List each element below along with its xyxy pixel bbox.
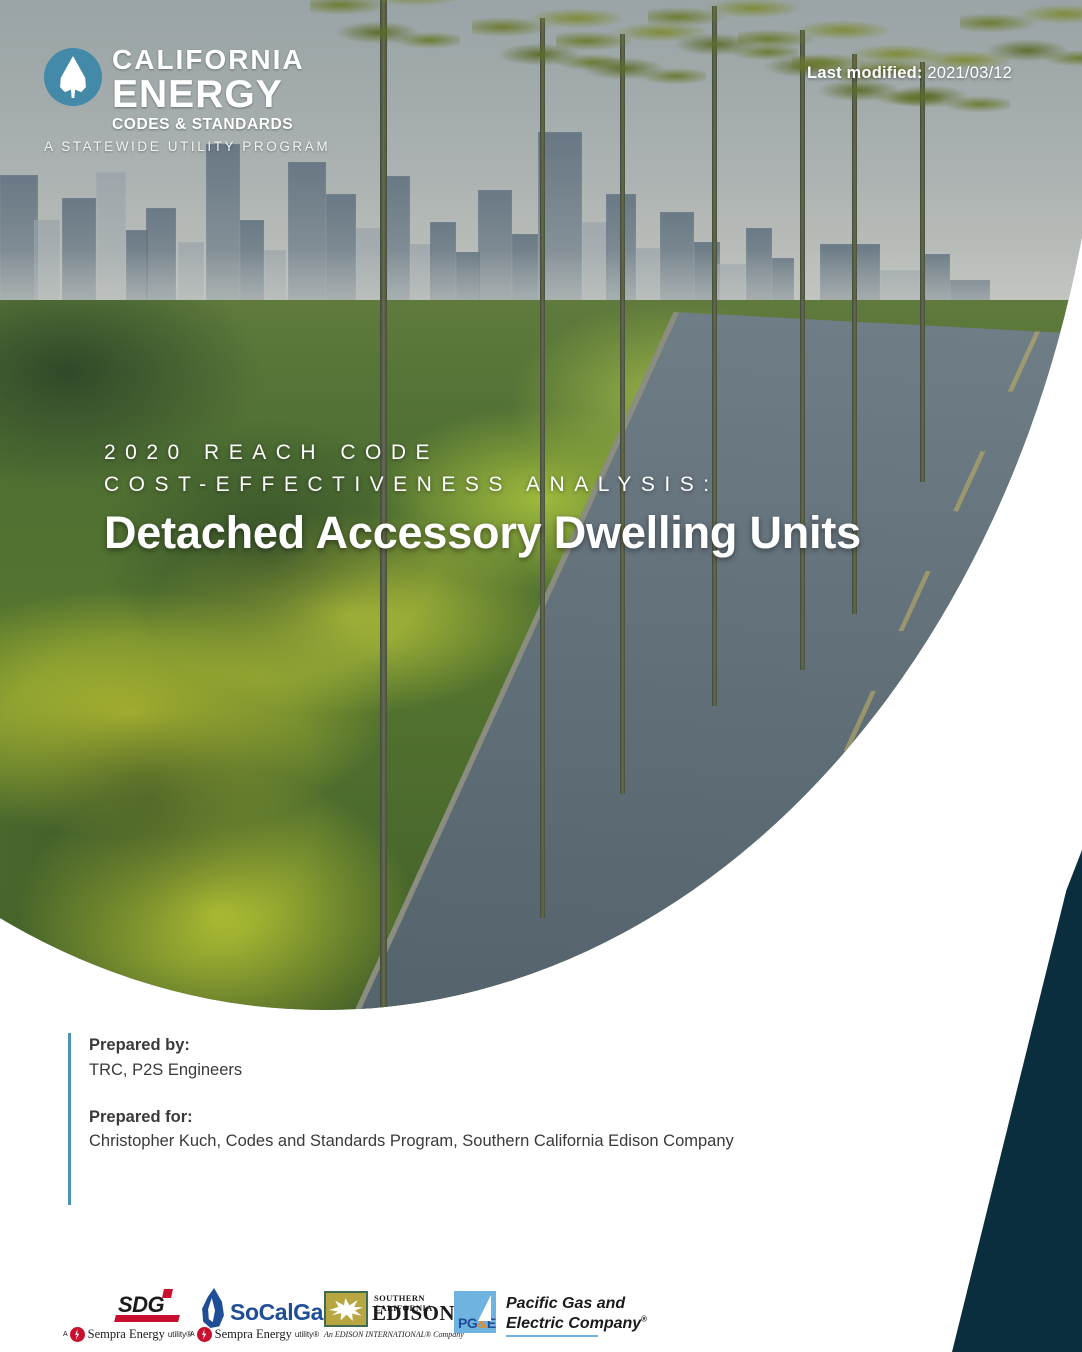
credits-block: Prepared by: TRC, P2S Engineers Prepared… [68,1033,734,1205]
california-energy-logo: CALIFORNIA ENERGY CODES & STANDARDS A ST… [44,46,330,154]
sempra-endorsement: A Sempra Energy utility® [190,1327,319,1342]
southern-california-edison-logo: SOUTHERN CALIFORNIA EDISON® An EDISON IN… [322,1288,452,1346]
pge-mark-letters: PG&E [458,1315,496,1331]
sempra-wordmark: Sempra Energy [215,1327,292,1342]
logo-tagline: A STATEWIDE UTILITY PROGRAM [44,139,330,154]
leaf-glyph [56,56,90,98]
sempra-a-label: A [63,1331,68,1338]
pge-letters-amp: & [477,1315,487,1331]
page-title: Detached Accessory Dwelling Units [104,508,861,558]
title-block: 2020 REACH CODE COST-EFFECTIVENESS ANALY… [104,437,861,557]
last-modified-label: Last modified: [807,64,923,82]
corner-wedge-decoration [952,850,1082,1352]
edison-sub-line: An EDISON INTERNATIONAL® Company [324,1330,464,1339]
sempra-bolt-icon [197,1327,212,1342]
pge-underline-rule [506,1335,598,1337]
eyebrow-line-2: COST-EFFECTIVENESS ANALYSIS: [104,469,861,501]
pge-word-line-1: Pacific Gas and [506,1295,625,1312]
pge-letters-e: E [487,1315,496,1331]
palm-fronds [310,0,460,82]
palm-fronds [960,0,1082,100]
sdge-underbar [114,1315,180,1322]
edison-sunburst-icon [324,1291,368,1327]
prepared-by-value: TRC, P2S Engineers [89,1058,734,1083]
palm-trunk [712,6,717,706]
logo-line-energy: ENERGY [112,75,305,115]
cover-page: CALIFORNIA ENERGY CODES & STANDARDS A ST… [0,0,1082,1352]
eyebrow-line-1: 2020 REACH CODE [104,437,861,469]
edison-wordmark: EDISON® [372,1301,461,1326]
sempra-endorsement: A Sempra Energy utility® [63,1327,192,1342]
pge-registered-mark: ® [641,1314,647,1323]
pge-logo: PG&E Pacific Gas andElectric Company® [452,1288,602,1346]
logo-line-codes-standards: CODES & STANDARDS [112,117,305,133]
palm-trunk [620,34,625,794]
socalgas-flame-icon [199,1288,225,1328]
pge-wordmark: Pacific Gas andElectric Company® [506,1294,647,1333]
socalgas-wordmark: SoCalGas [230,1299,335,1326]
socalgas-logo: SoCalGas A Sempra Energy utility® [187,1288,322,1346]
sdge-accent-mark [162,1289,173,1298]
logo-line-california: CALIFORNIA [112,46,305,74]
prepared-for-value: Christopher Kuch, Codes and Standards Pr… [89,1129,734,1154]
prepared-for-label: Prepared for: [89,1105,734,1130]
sempra-a-label: A [190,1331,195,1338]
sempra-wordmark: Sempra Energy [88,1327,165,1342]
last-modified-stamp: Last modified: 2021/03/12 [807,64,1012,83]
pge-mark-icon: PG&E [454,1291,496,1333]
pge-letters-pg: PG [458,1315,477,1331]
last-modified-date: 2021/03/12 [927,64,1012,82]
sempra-utility-label: utility® [295,1330,319,1339]
road-center-line [716,331,1040,1010]
pge-word-line-2: Electric Company [506,1315,641,1332]
sempra-bolt-icon [70,1327,85,1342]
prepared-by-label: Prepared by: [89,1033,734,1058]
leaf-logo-icon [44,48,102,106]
sdge-logo: SDG A Sempra Energy utility® [60,1288,187,1346]
edison-wordmark-text: EDISON [372,1301,455,1325]
sponsor-logo-strip: SDG A Sempra Energy utility® SoCalGas A … [60,1288,620,1348]
